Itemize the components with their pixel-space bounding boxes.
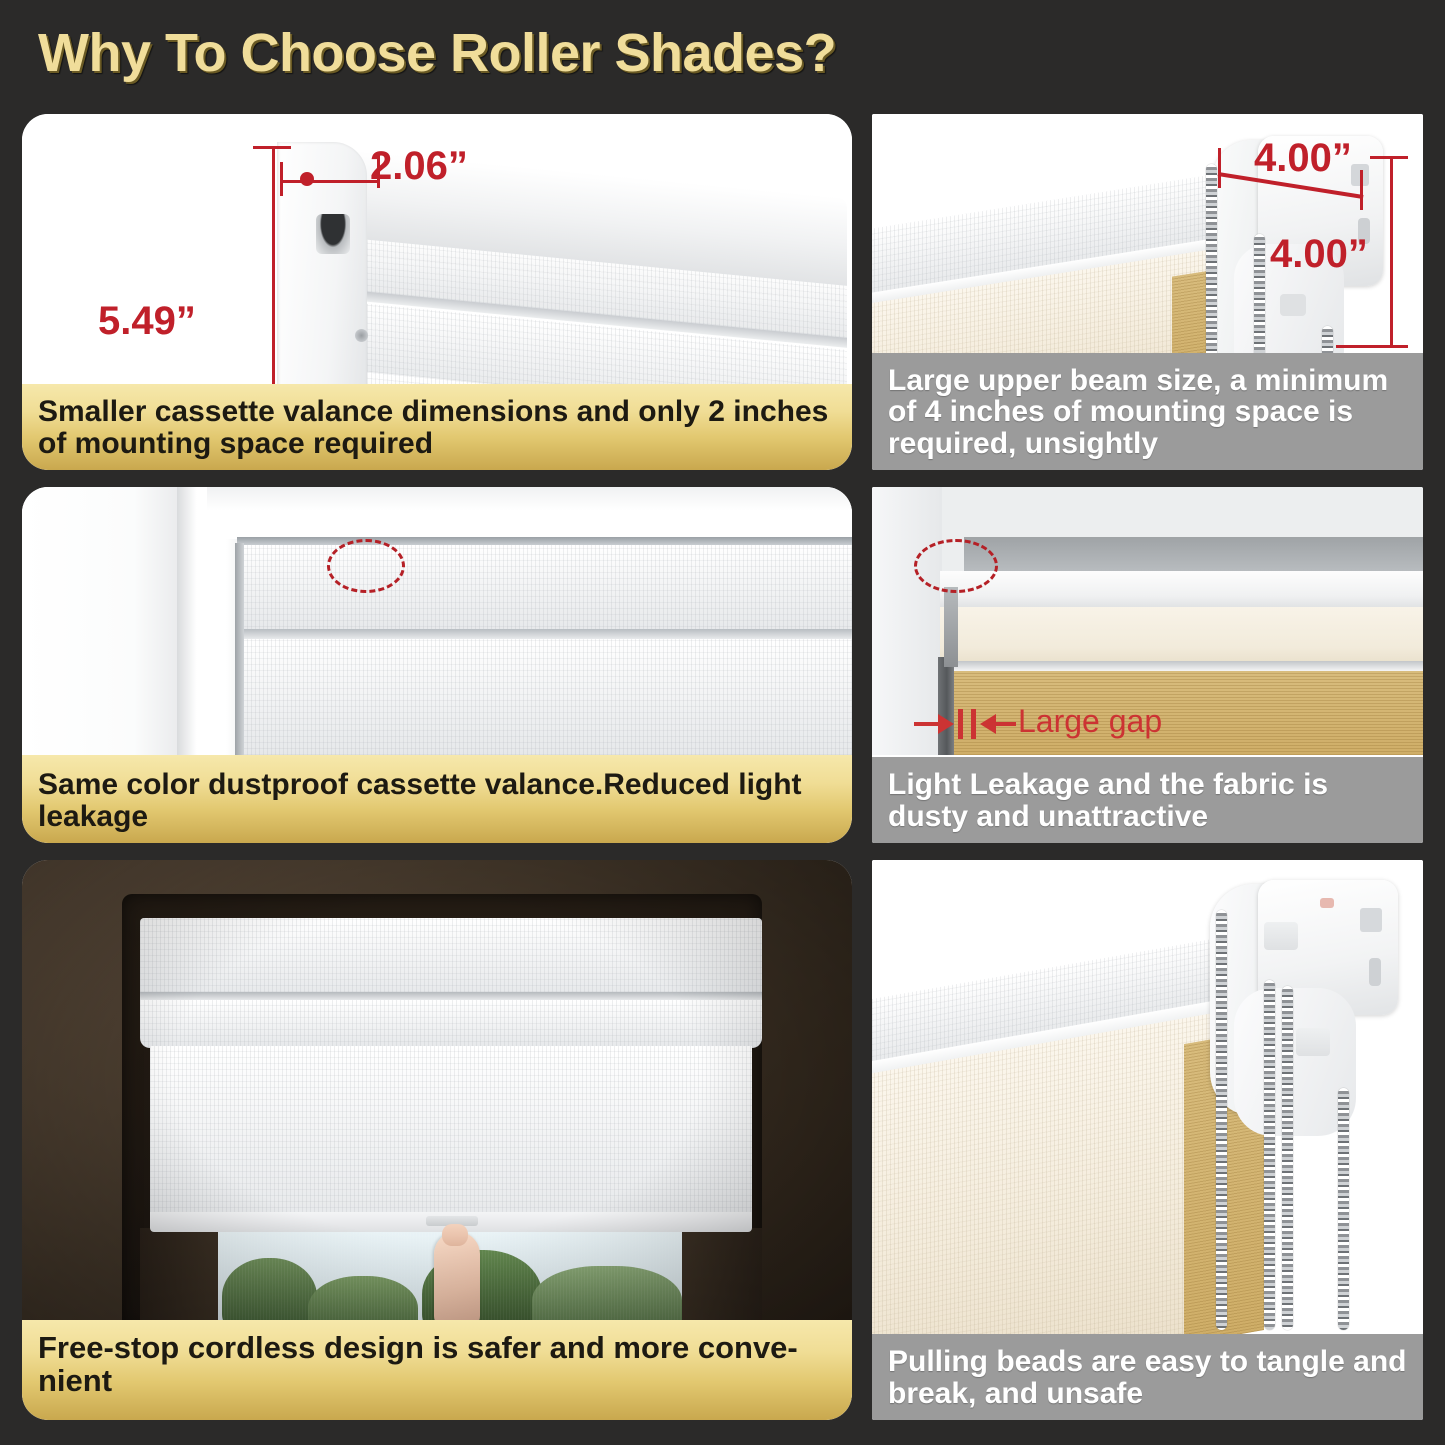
panel-dustproof-cassette-valance: smaller gap Same color dustproof cassett… (22, 487, 852, 843)
caption-large-upper-beam-dimensions: Large upper beam size, a minimum of 4 in… (872, 353, 1423, 470)
panel-pulling-beads-unsafe: Pulling beads are easy to tangle and bre… (872, 860, 1423, 1420)
hand (434, 1232, 480, 1328)
bead-chain-right (1338, 1088, 1349, 1330)
beam-height-label: 4.00” (1270, 232, 1368, 277)
shade-left-edge (235, 543, 244, 755)
width-dimension-label: 2.06” (370, 144, 468, 189)
gap-arrow-right-head (980, 714, 996, 734)
width-dim-dot (300, 172, 314, 186)
shade-fabric-white (239, 639, 852, 755)
wall-left (872, 487, 942, 755)
beam-width-tick-left (1218, 148, 1221, 188)
window-wall (22, 487, 182, 755)
bracket-pin (1320, 898, 1334, 908)
end-cap-screw (355, 329, 368, 342)
width-dim-line (280, 180, 380, 183)
cassette-roller (140, 1000, 762, 1048)
gap-highlight-ellipse (327, 539, 405, 593)
panel-light-leakage-dusty-fabric: Large gap Light Leakage and the fabric i… (872, 487, 1423, 843)
gap-marker-bar-1 (958, 709, 963, 739)
gap-marker-bar-2 (971, 709, 976, 739)
valance-cream-face (940, 607, 1423, 665)
page-title: Why To Choose Roller Shades? (38, 22, 1338, 92)
width-dim-tick-left (280, 162, 283, 196)
sash-right (682, 1228, 762, 1330)
end-cap-slot-upper (316, 214, 350, 254)
window-frame-top (207, 487, 852, 539)
beam-width-tick-right (1360, 170, 1363, 210)
gap-label-large: Large gap (1018, 703, 1162, 740)
caption-dustproof-cassette-valance: Same color dustproof cassette valance.Re… (22, 755, 852, 843)
bracket-icon-lower (1296, 1028, 1330, 1056)
gap-arrow-right-stem (996, 722, 1016, 726)
bracket-side (944, 587, 958, 667)
beam-width-label: 4.00” (1254, 136, 1352, 181)
caption-light-leakage-dusty-fabric: Light Leakage and the fabric is dusty an… (872, 757, 1423, 843)
cassette-top-shadow (237, 537, 852, 545)
panel-large-upper-beam-dimensions: 4.00” 4.00” Large upper beam size, a min… (872, 114, 1423, 470)
panel-cassette-valance-dimensions: 2.06” 5.49” Smaller cassette valance dim… (22, 114, 852, 470)
beam-height-line (1390, 156, 1393, 348)
bracket-icon-upper (1264, 922, 1298, 950)
height-dim-tick-top (253, 146, 291, 149)
shade-fabric-lowered (150, 1046, 752, 1226)
caption-cordless-free-stop-window: Free-stop cordless design is safer and m… (22, 1320, 852, 1420)
recess-shadow (964, 537, 1423, 573)
bead-chain-middle-2 (1282, 986, 1293, 1330)
beam-height-tick-top (1370, 156, 1408, 159)
bracket-slot-lower (1369, 958, 1381, 986)
large-gap-strip (938, 657, 954, 755)
gap-highlight-ellipse (914, 539, 998, 593)
cassette-headrail (140, 918, 762, 998)
height-dimension-label: 5.49” (98, 299, 196, 344)
sash-left (140, 1228, 218, 1330)
gap-arrow-left-head (938, 714, 954, 734)
panel-cordless-free-stop-window: Free-stop cordless design is safer and m… (22, 860, 852, 1420)
infographic-root: Why To Choose Roller Shades? 2.06” (0, 0, 1445, 1445)
beam-height-tick-bottom (1336, 345, 1408, 348)
bead-chain-middle (1264, 980, 1275, 1330)
bead-chain-left (1206, 164, 1217, 379)
fingers (442, 1224, 468, 1246)
caption-cassette-valance-dimensions: Smaller cassette valance dimensions and … (22, 384, 852, 470)
caption-pulling-beads-unsafe: Pulling beads are easy to tangle and bre… (872, 1334, 1423, 1420)
bead-chain-left (1216, 910, 1227, 1330)
bracket-slot-upper (1360, 908, 1382, 932)
bracket-detail-icon (1280, 294, 1306, 316)
